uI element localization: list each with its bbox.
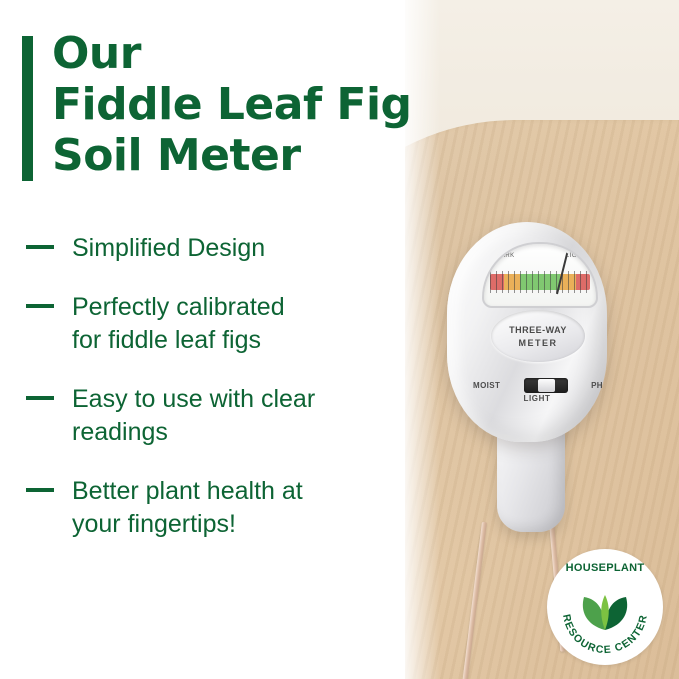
- soil-meter-device: DARK LIGHT THREE-WAY METER MOIST PH LIGH…: [437, 222, 617, 557]
- logo-arc-label: RESOURCE CENTER: [560, 613, 650, 656]
- gauge-left-label: DARK: [496, 253, 515, 259]
- list-item-label: Easy to use with clearreadings: [72, 383, 426, 449]
- list-item-label: Better plant health atyour fingertips!: [72, 475, 426, 541]
- title-line-1: Our: [52, 28, 402, 79]
- title-accent-bar: [22, 36, 33, 181]
- mode-switch-toggle[interactable]: [524, 378, 568, 393]
- badge-line-2: METER: [519, 338, 558, 348]
- logo-inner: HOUSEPLANT RESOURCE CENTER: [547, 549, 663, 665]
- brand-badge: THREE-WAY METER: [491, 310, 585, 362]
- list-item: Perfectly calibratedfor fiddle leaf figs: [26, 291, 426, 357]
- title-line-2: Fiddle Leaf Fig: [52, 79, 402, 130]
- badge-line-1: THREE-WAY: [509, 325, 567, 335]
- feature-list: Simplified Design Perfectly calibratedfo…: [26, 232, 426, 567]
- switch-knob[interactable]: [538, 379, 555, 392]
- promo-image: DARK LIGHT THREE-WAY METER MOIST PH LIGH…: [0, 0, 679, 679]
- meter-housing: DARK LIGHT THREE-WAY METER MOIST PH LIGH…: [447, 222, 607, 442]
- page-title: Our Fiddle Leaf Fig Soil Meter: [52, 28, 402, 181]
- gauge-right-label: LIGHT: [566, 253, 586, 259]
- list-item-label: Simplified Design: [72, 232, 426, 265]
- title-line-3: Soil Meter: [52, 130, 402, 181]
- dash-icon: [26, 245, 54, 249]
- list-item-label: Perfectly calibratedfor fiddle leaf figs: [72, 291, 426, 357]
- switch-label-light: LIGHT: [505, 394, 569, 403]
- logo-arc-text: RESOURCE CENTER: [547, 549, 663, 665]
- switch-label-moist: MOIST: [473, 381, 500, 390]
- dash-icon: [26, 488, 54, 492]
- houseplant-resource-center-logo: HOUSEPLANT RESOURCE CENTER: [547, 549, 663, 665]
- list-item: Simplified Design: [26, 232, 426, 265]
- mode-switch-row[interactable]: MOIST PH: [473, 374, 603, 396]
- dash-icon: [26, 396, 54, 400]
- gauge-tick-marks: [490, 271, 590, 293]
- dash-icon: [26, 304, 54, 308]
- gauge-display: DARK LIGHT: [482, 242, 598, 308]
- switch-label-ph: PH: [591, 381, 603, 390]
- list-item: Better plant health atyour fingertips!: [26, 475, 426, 541]
- list-item: Easy to use with clearreadings: [26, 383, 426, 449]
